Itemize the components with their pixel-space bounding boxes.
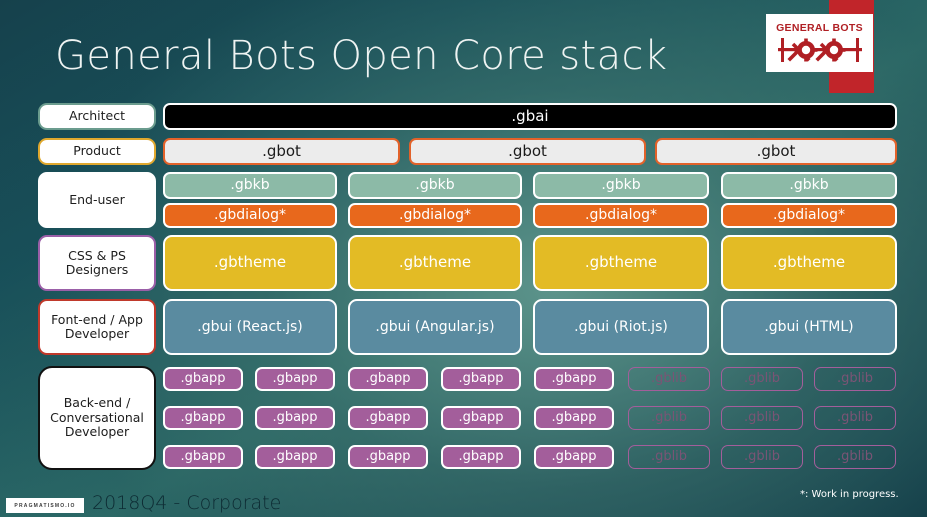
role-label-architect: Architect (38, 103, 156, 130)
stack-box-gblib-r3c2[interactable]: .gblib (721, 445, 803, 469)
role-label-front-end-app-developer: Font-end / App Developer (38, 299, 156, 355)
stack-box-gblib-r2c2[interactable]: .gblib (721, 406, 803, 430)
stack-box-gbtheme-1[interactable]: .gbtheme (163, 235, 337, 291)
stack-box-gbot-2[interactable]: .gbot (409, 138, 646, 165)
stack-box-gbapp-r1c4[interactable]: .gbapp (441, 367, 521, 391)
stack-box-gbkb-2[interactable]: .gbkb (348, 172, 522, 199)
stack-box-gbui-html[interactable]: .gbui (HTML) (721, 299, 897, 355)
slide-canvas: GENERAL BOTS General Bots Open Core stac… (0, 0, 927, 517)
stack-box-gbapp-r2c2[interactable]: .gbapp (255, 406, 335, 430)
stack-box-gblib-r2c1[interactable]: .gblib (628, 406, 710, 430)
stack-box-gbot-1[interactable]: .gbot (163, 138, 400, 165)
stack-box-gblib-r3c3[interactable]: .gblib (814, 445, 896, 469)
role-label-end-user: End-user (38, 172, 156, 228)
stack-box-gbapp-r3c3[interactable]: .gbapp (348, 445, 428, 469)
stack-box-gbapp-r3c5[interactable]: .gbapp (534, 445, 614, 469)
stack-box-gbui-react[interactable]: .gbui (React.js) (163, 299, 337, 355)
stack-box-gbtheme-4[interactable]: .gbtheme (721, 235, 897, 291)
stack-box-gbdialog-4[interactable]: .gbdialog* (721, 203, 897, 228)
stack-box-gbkb-1[interactable]: .gbkb (163, 172, 337, 199)
stack-box-gbapp-r1c3[interactable]: .gbapp (348, 367, 428, 391)
stack-box-gbapp-r3c4[interactable]: .gbapp (441, 445, 521, 469)
role-label-back-end-developer: Back-end / Conversational Developer (38, 366, 156, 470)
stack-box-gbapp-r3c1[interactable]: .gbapp (163, 445, 243, 469)
stack-box-gblib-r3c1[interactable]: .gblib (628, 445, 710, 469)
stack-box-gblib-r1c1[interactable]: .gblib (628, 367, 710, 391)
page-title: General Bots Open Core stack (55, 33, 668, 79)
stack-box-gbapp-r2c3[interactable]: .gbapp (348, 406, 428, 430)
stack-box-gbapp-r1c1[interactable]: .gbapp (163, 367, 243, 391)
stack-box-gbdialog-2[interactable]: .gbdialog* (348, 203, 522, 228)
stack-box-gbapp-r2c1[interactable]: .gbapp (163, 406, 243, 430)
stack-box-gblib-r1c3[interactable]: .gblib (814, 367, 896, 391)
stack-box-gbapp-r1c2[interactable]: .gbapp (255, 367, 335, 391)
role-label-css-ps-designers: CSS & PS Designers (38, 235, 156, 291)
stack-box-gblib-r2c3[interactable]: .gblib (814, 406, 896, 430)
stack-box-gbui-riot[interactable]: .gbui (Riot.js) (533, 299, 709, 355)
stack-box-gblib-r1c2[interactable]: .gblib (721, 367, 803, 391)
pragmatismo-logo-text: PRAGMATISMO.IO (14, 503, 75, 509)
stack-box-gbai[interactable]: .gbai (163, 103, 897, 130)
stack-box-gbtheme-2[interactable]: .gbtheme (348, 235, 522, 291)
stack-box-gbapp-r1c5[interactable]: .gbapp (534, 367, 614, 391)
stack-box-gbui-angular[interactable]: .gbui (Angular.js) (348, 299, 522, 355)
stack-box-gbot-3[interactable]: .gbot (655, 138, 897, 165)
role-label-product: Product (38, 138, 156, 165)
stack-box-gbtheme-3[interactable]: .gbtheme (533, 235, 709, 291)
stack-box-gbdialog-3[interactable]: .gbdialog* (533, 203, 709, 228)
stack-box-gbkb-4[interactable]: .gbkb (721, 172, 897, 199)
stack-box-gbkb-3[interactable]: .gbkb (533, 172, 709, 199)
gears-icon (778, 37, 862, 63)
stack-box-gbapp-r3c2[interactable]: .gbapp (255, 445, 335, 469)
pragmatismo-logo: PRAGMATISMO.IO (6, 498, 84, 513)
stack-box-gbapp-r2c4[interactable]: .gbapp (441, 406, 521, 430)
footer-caption: 2018Q4 - Corporate (92, 492, 281, 514)
general-bots-logo: GENERAL BOTS (766, 14, 873, 72)
logo-wordmark: GENERAL BOTS (776, 23, 863, 34)
stack-box-gbdialog-1[interactable]: .gbdialog* (163, 203, 337, 228)
stack-box-gbapp-r2c5[interactable]: .gbapp (534, 406, 614, 430)
footnote-work-in-progress: *: Work in progress. (800, 489, 899, 500)
